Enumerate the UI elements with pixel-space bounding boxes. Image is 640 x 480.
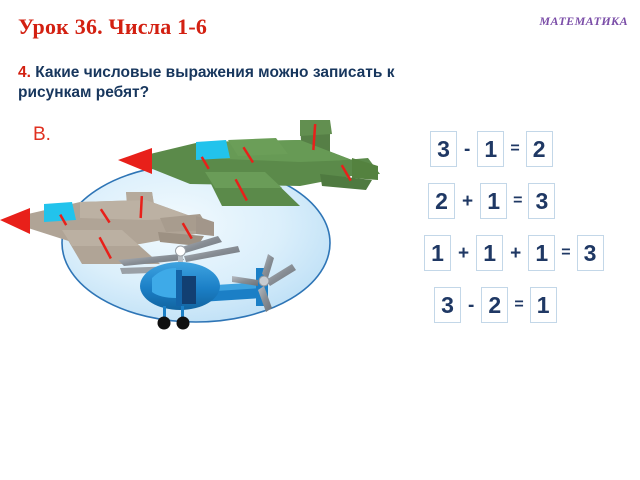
number-box[interactable]: 3 [434, 287, 461, 323]
operator: + [503, 244, 528, 263]
number-box[interactable]: 1 [477, 131, 504, 167]
task-prompt: 4. Какие числовые выражения можно записа… [18, 63, 418, 104]
lesson-title: Урок 36. Числа 1-6 [18, 14, 207, 40]
number-box[interactable]: 1 [424, 235, 451, 271]
number-box[interactable]: 2 [428, 183, 455, 219]
expression-row: 1 + 1 + 1 = 3 [424, 234, 604, 272]
number-box[interactable]: 3 [430, 131, 457, 167]
number-box[interactable]: 3 [528, 183, 555, 219]
operator: + [451, 244, 476, 263]
expression-row: 2 + 1 = 3 [428, 182, 555, 220]
number-box[interactable]: 2 [526, 131, 553, 167]
aircraft-illustration [0, 118, 400, 338]
task-number: 4. [18, 64, 31, 81]
wheel [158, 317, 171, 330]
subject-label: МАТЕМАТИКА [539, 14, 628, 29]
equals-sign: = [507, 193, 528, 209]
number-box[interactable]: 3 [577, 235, 604, 271]
operator: - [461, 296, 481, 315]
number-box[interactable]: 1 [528, 235, 555, 271]
operator: + [455, 192, 480, 211]
number-box[interactable]: 2 [481, 287, 508, 323]
number-box[interactable]: 1 [530, 287, 557, 323]
task-text: Какие числовые выражения можно записать … [18, 64, 394, 101]
wheel [177, 317, 190, 330]
equals-sign: = [508, 297, 529, 313]
expression-row: 3 - 1 = 2 [430, 130, 553, 168]
number-box[interactable]: 1 [480, 183, 507, 219]
operator: - [457, 140, 477, 159]
number-box[interactable]: 1 [476, 235, 503, 271]
equals-sign: = [555, 245, 576, 261]
equals-sign: = [504, 141, 525, 157]
expression-row: 3 - 2 = 1 [434, 286, 557, 324]
